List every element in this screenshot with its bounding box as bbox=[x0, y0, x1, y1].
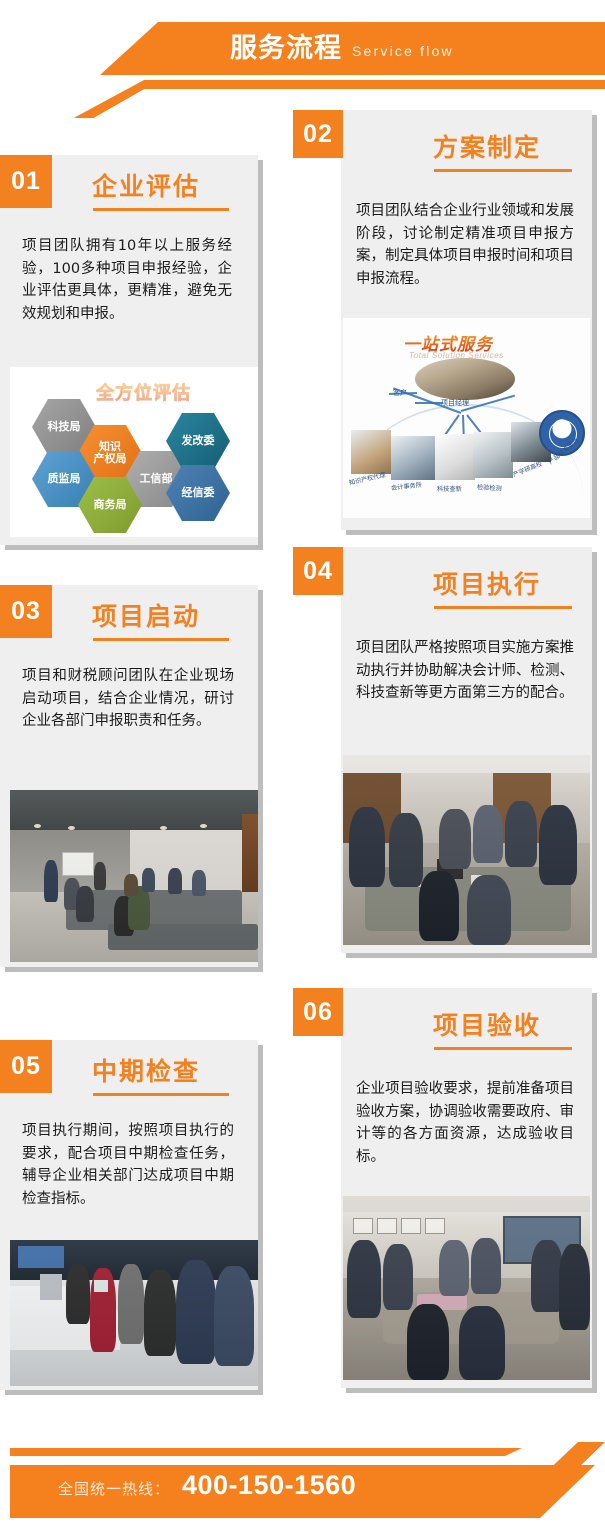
hotline-label: 全国统一热线： bbox=[58, 1478, 170, 1499]
card-03-number-badge: 03 bbox=[0, 585, 52, 638]
center-meeting-photo bbox=[415, 358, 515, 400]
card-03-title: 项目启动 bbox=[92, 597, 200, 633]
card-01-number-badge: 01 bbox=[0, 155, 52, 208]
card-06-title: 项目验收 bbox=[433, 1006, 541, 1042]
infographic-title: 全方位评估 bbox=[96, 379, 191, 405]
service-photo-testing bbox=[473, 432, 513, 478]
card-01-title: 企业评估 bbox=[92, 167, 200, 203]
hex-label: 发改委 bbox=[182, 435, 215, 448]
card-01-description: 项目团队拥有10年以上服务经验，100多种项目申报经验，企业评估更具体，更精准，… bbox=[22, 235, 232, 325]
page-subtitle: Service flow bbox=[352, 39, 454, 63]
card-04-number-badge: 04 bbox=[293, 547, 343, 595]
caption-testing: 检验检测 bbox=[477, 482, 502, 493]
card-02-infographic: 一站式服务 Total Solution Services 客户 项目经理 知识… bbox=[343, 318, 590, 518]
card-05-photo bbox=[10, 1240, 258, 1386]
card-03-title-rule bbox=[93, 638, 229, 641]
card-01-title-rule bbox=[93, 208, 229, 211]
footer-top-line bbox=[10, 1448, 522, 1456]
card-03-photo bbox=[10, 790, 258, 962]
card-05-description: 项目执行期间，按照项目执行的要求，配合项目中期检查任务，辅导企业相关部门达成项目… bbox=[22, 1120, 234, 1210]
hex-label: 商务局 bbox=[94, 499, 127, 512]
card-06-title-rule bbox=[434, 1047, 572, 1050]
card-02-title-rule bbox=[434, 169, 572, 172]
card-06-description: 企业项目验收要求，提前准备项目验收方案，协调验收需要政府、审计等的各方面资源，达… bbox=[356, 1078, 574, 1168]
card-04-photo bbox=[343, 755, 590, 945]
service-flow-page: 服务流程 Service flow 01 企业评估 项目团队拥有10年以上服务经… bbox=[0, 0, 605, 1538]
page-title: 服务流程 bbox=[230, 30, 342, 68]
hex-label: 知识 产权局 bbox=[94, 441, 127, 466]
card-05-title: 中期检查 bbox=[92, 1052, 200, 1088]
caption-search: 科技查新 bbox=[437, 484, 462, 493]
service-photo-accounting bbox=[391, 436, 435, 480]
hex-label: 质监局 bbox=[48, 473, 81, 486]
hex-label: 工信部 bbox=[140, 473, 173, 486]
card-01-infographic: 全方位评估 科技局 知识 产权局 发改委 质监局 工信部 商务局 经信委 bbox=[10, 367, 258, 537]
card-03-description: 项目和财税顾问团队在企业现场启动项目，结合企业情况，研讨企业各部门申报职责和任务… bbox=[22, 665, 234, 733]
card-02-description: 项目团队结合企业行业领域和发展阶段，讨论制定精准项目申报方案，制定具体项目申报时… bbox=[356, 200, 574, 290]
hex-label: 科技局 bbox=[48, 421, 81, 434]
card-02-number-badge: 02 bbox=[293, 110, 343, 158]
card-04-description: 项目团队严格按照项目实施方案推动执行并协助解决会计师、检测、科技查新等更方面第三… bbox=[356, 637, 574, 705]
service-photo-ip bbox=[351, 430, 391, 474]
card-04-title-rule bbox=[434, 606, 572, 609]
card-06-number-badge: 06 bbox=[293, 988, 343, 1036]
hotline-number[interactable]: 400-150-1560 bbox=[182, 1470, 356, 1501]
card-05-number-badge: 05 bbox=[0, 1040, 52, 1093]
card-05-title-rule bbox=[93, 1093, 229, 1096]
footer-banner-wedge bbox=[420, 1465, 595, 1518]
service-photo-search bbox=[435, 434, 475, 480]
card-02-title: 方案制定 bbox=[433, 128, 541, 164]
card-04-title: 项目执行 bbox=[433, 565, 541, 601]
hex-label: 经信委 bbox=[182, 487, 215, 500]
page-header: 服务流程 Service flow bbox=[0, 0, 605, 118]
page-footer: 全国统一热线： 400-150-1560 bbox=[0, 1420, 605, 1538]
header-underline bbox=[142, 80, 605, 89]
card-06-photo bbox=[343, 1196, 590, 1380]
